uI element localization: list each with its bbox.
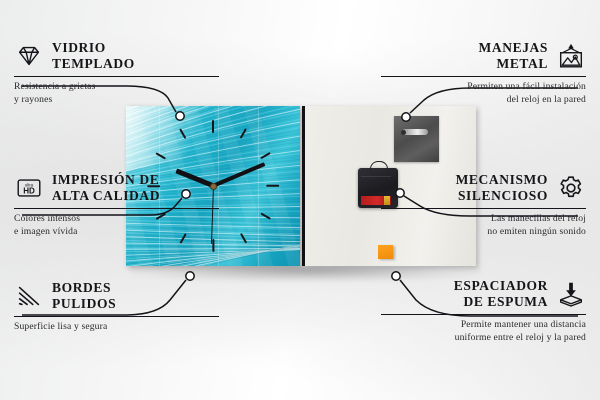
- movement-hanger-loop: [370, 161, 388, 171]
- divider: [381, 314, 586, 315]
- feature-heading: VIDRIOTEMPLADO: [14, 40, 219, 73]
- feature-heading: ESPACIADORDE ESPUMA: [381, 278, 586, 311]
- feature-description: Superficie lisa y segura: [14, 321, 219, 334]
- divider: [14, 76, 219, 77]
- feature-title: MANEJASMETAL: [479, 40, 548, 73]
- feature-edges: BORDESPULIDOS Superficie lisa y segura: [14, 280, 219, 334]
- gear-icon: [556, 173, 586, 203]
- panel-edge: [302, 106, 305, 266]
- polished-edges-icon: [14, 281, 44, 311]
- feature-print: ultra HD IMPRESIÓN DEALTA CALIDAD Colore…: [14, 172, 219, 239]
- feature-title: ESPACIADORDE ESPUMA: [454, 278, 548, 311]
- feature-description: Colores intensose imagen vívida: [14, 213, 219, 239]
- feature-heading: MECANISMOSILENCIOSO: [381, 172, 586, 205]
- feature-description: Permite mantener una distanciauniforme e…: [381, 319, 586, 345]
- ultra-hd-icon: ultra HD: [14, 173, 44, 203]
- foam-spacer-icon: [556, 279, 586, 309]
- divider: [14, 208, 219, 209]
- wall-frame-icon: [556, 41, 586, 71]
- divider: [14, 316, 219, 317]
- feature-title: MECANISMOSILENCIOSO: [456, 172, 548, 205]
- glass-seam: [258, 106, 259, 266]
- feature-title: VIDRIOTEMPLADO: [52, 40, 135, 73]
- svg-text:HD: HD: [23, 187, 35, 196]
- feature-heading: MANEJASMETAL: [381, 40, 586, 73]
- feature-mechanism: MECANISMOSILENCIOSO Las manecillas del r…: [381, 172, 586, 239]
- feature-description: Resistencia a grietasy rayones: [14, 81, 219, 107]
- divider: [381, 208, 586, 209]
- clock-tick: [212, 239, 214, 252]
- divider: [381, 76, 586, 77]
- feature-heading: ultra HD IMPRESIÓN DEALTA CALIDAD: [14, 172, 219, 205]
- infographic-canvas: VIDRIOTEMPLADO Resistencia a grietasy ra…: [0, 0, 600, 400]
- hanger-plate: [394, 116, 439, 162]
- feature-heading: BORDESPULIDOS: [14, 280, 219, 313]
- feature-description: Las manecillas del relojno emiten ningún…: [381, 213, 586, 239]
- feature-title: IMPRESIÓN DEALTA CALIDAD: [52, 172, 160, 205]
- feature-description: Permiten una fácil instalacióndel reloj …: [381, 81, 586, 107]
- diamond-icon: [14, 41, 44, 71]
- feature-glass: VIDRIOTEMPLADO Resistencia a grietasy ra…: [14, 40, 219, 107]
- hanger-hole: [401, 130, 406, 135]
- feature-title: BORDESPULIDOS: [52, 280, 116, 313]
- feature-hooks: MANEJASMETAL Permiten una fácil instalac…: [381, 40, 586, 107]
- foam-spacer: [378, 245, 393, 259]
- feature-spacer: ESPACIADORDE ESPUMA Permite mantener una…: [381, 278, 586, 345]
